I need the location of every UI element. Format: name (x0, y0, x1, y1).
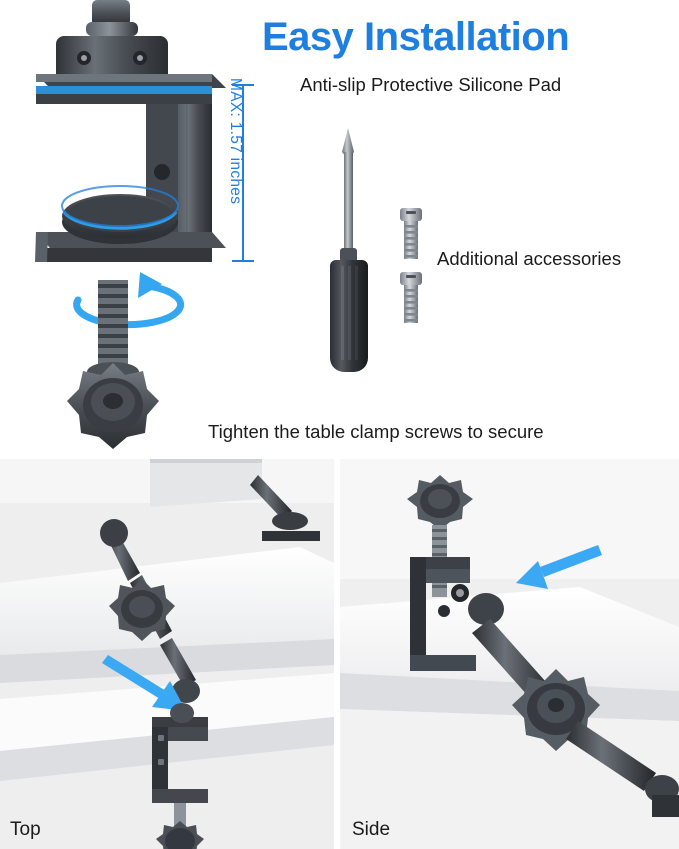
desk-clamp-icon (0, 0, 262, 452)
panel-label-top: Top (10, 819, 41, 841)
screw-icon (400, 208, 422, 259)
product-instruction-image: Easy Installation Anti-slip Protective S… (0, 0, 679, 849)
accessories-label: Additional accessories (437, 248, 621, 270)
accessories-illustration (320, 120, 450, 400)
screwdriver-icon (330, 128, 368, 372)
page-subtitle: Anti-slip Protective Silicone Pad (300, 74, 679, 96)
panel-label-side: Side (352, 819, 390, 841)
screw-icon (400, 272, 422, 323)
panel-side-view: Side (340, 459, 679, 849)
page-title: Easy Installation (262, 16, 672, 58)
panel-top-view: Top (0, 459, 334, 849)
